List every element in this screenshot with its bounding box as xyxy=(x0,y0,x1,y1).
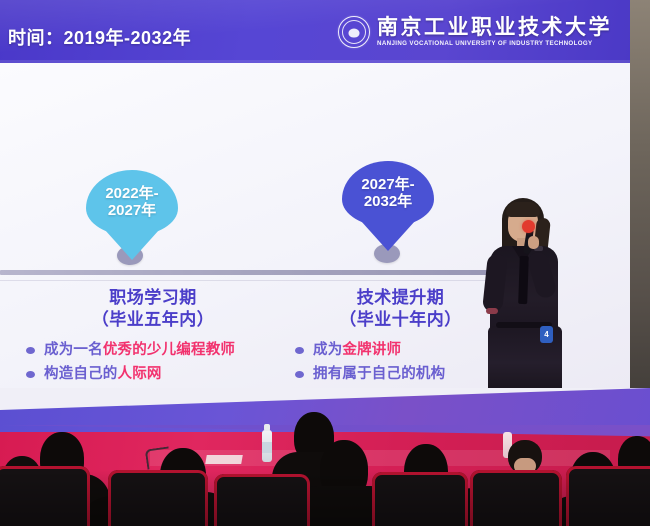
slide-title: 时间：2019年-2032年 xyxy=(8,24,191,50)
university-seal-icon xyxy=(338,16,370,48)
bullet-dot-icon xyxy=(26,347,35,354)
bullet-text: 成为一名 xyxy=(44,342,103,358)
column-heading-left: 职场学习期 （毕业五年内） xyxy=(24,287,282,331)
presenter-bracelet xyxy=(486,308,498,314)
presenter-speaker: 4 xyxy=(482,198,574,403)
presenter-number-badge: 4 xyxy=(540,326,553,343)
timeline-pin-1: 2022年- 2027年 xyxy=(86,170,178,236)
pin-bubble-2: 2027年- 2032年 xyxy=(342,161,434,227)
bullet-highlight: 金牌讲师 xyxy=(342,342,401,358)
auditorium-seat xyxy=(108,470,208,526)
pin-tail-1 xyxy=(105,230,159,260)
right-wall xyxy=(628,0,650,420)
auditorium-seat xyxy=(470,470,562,526)
water-bottle xyxy=(262,430,272,462)
bullet-dot-icon xyxy=(26,371,35,378)
presenter-hand xyxy=(528,236,539,249)
presenter-fringe xyxy=(506,202,540,217)
timeline-axis xyxy=(0,270,512,275)
list-item: 成为一名优秀的少儿编程教师 xyxy=(24,340,282,361)
bullet-text: 构造自己的 xyxy=(44,366,118,382)
slide-header-band: 时间：2019年-2032年 南京工业职业技术大学 NANJING VOCATI… xyxy=(0,0,630,63)
bullet-highlight: 优秀的少儿编程教师 xyxy=(103,342,235,358)
auditorium-seat xyxy=(0,466,90,526)
auditorium-seat xyxy=(214,474,310,526)
paper-sheet xyxy=(205,455,243,464)
university-logo: 南京工业职业技术大学 NANJING VOCATIONAL UNIVERSITY… xyxy=(338,16,612,48)
pin-label-1: 2022年- 2027年 xyxy=(105,186,158,220)
bottle-label xyxy=(262,442,272,453)
bullet-highlight: 人际网 xyxy=(118,366,162,382)
conference-photo: 时间：2019年-2032年 南京工业职业技术大学 NANJING VOCATI… xyxy=(0,0,650,526)
bullet-text: 成为 xyxy=(313,342,342,358)
pin-bubble-1: 2022年- 2027年 xyxy=(86,170,178,236)
list-item: 拥有属于自己的机构 xyxy=(293,364,508,385)
timeline-underline xyxy=(0,280,512,281)
presenter-necktie xyxy=(518,256,529,304)
list-item: 构造自己的人际网 xyxy=(24,364,282,385)
university-name-cn: 南京工业职业技术大学 xyxy=(377,17,612,38)
bullet-dot-icon xyxy=(295,347,304,354)
bullet-text: 拥有属于自己的机构 xyxy=(313,366,445,382)
microphone-icon xyxy=(522,220,535,233)
auditorium-seat xyxy=(566,466,650,526)
bullet-dot-icon xyxy=(295,371,304,378)
pin-label-2: 2027年- 2032年 xyxy=(361,177,414,211)
auditorium-seat xyxy=(372,472,468,526)
timeline-pin-2: 2027年- 2032年 xyxy=(342,161,434,227)
university-name-en: NANJING VOCATIONAL UNIVERSITY OF INDUSTR… xyxy=(377,41,612,47)
pin-tail-2 xyxy=(361,221,415,251)
list-item: 成为金牌讲师 xyxy=(293,340,508,361)
badge-number: 4 xyxy=(544,331,548,339)
column-heading-right: 技术提升期 （毕业十年内） xyxy=(293,287,508,331)
